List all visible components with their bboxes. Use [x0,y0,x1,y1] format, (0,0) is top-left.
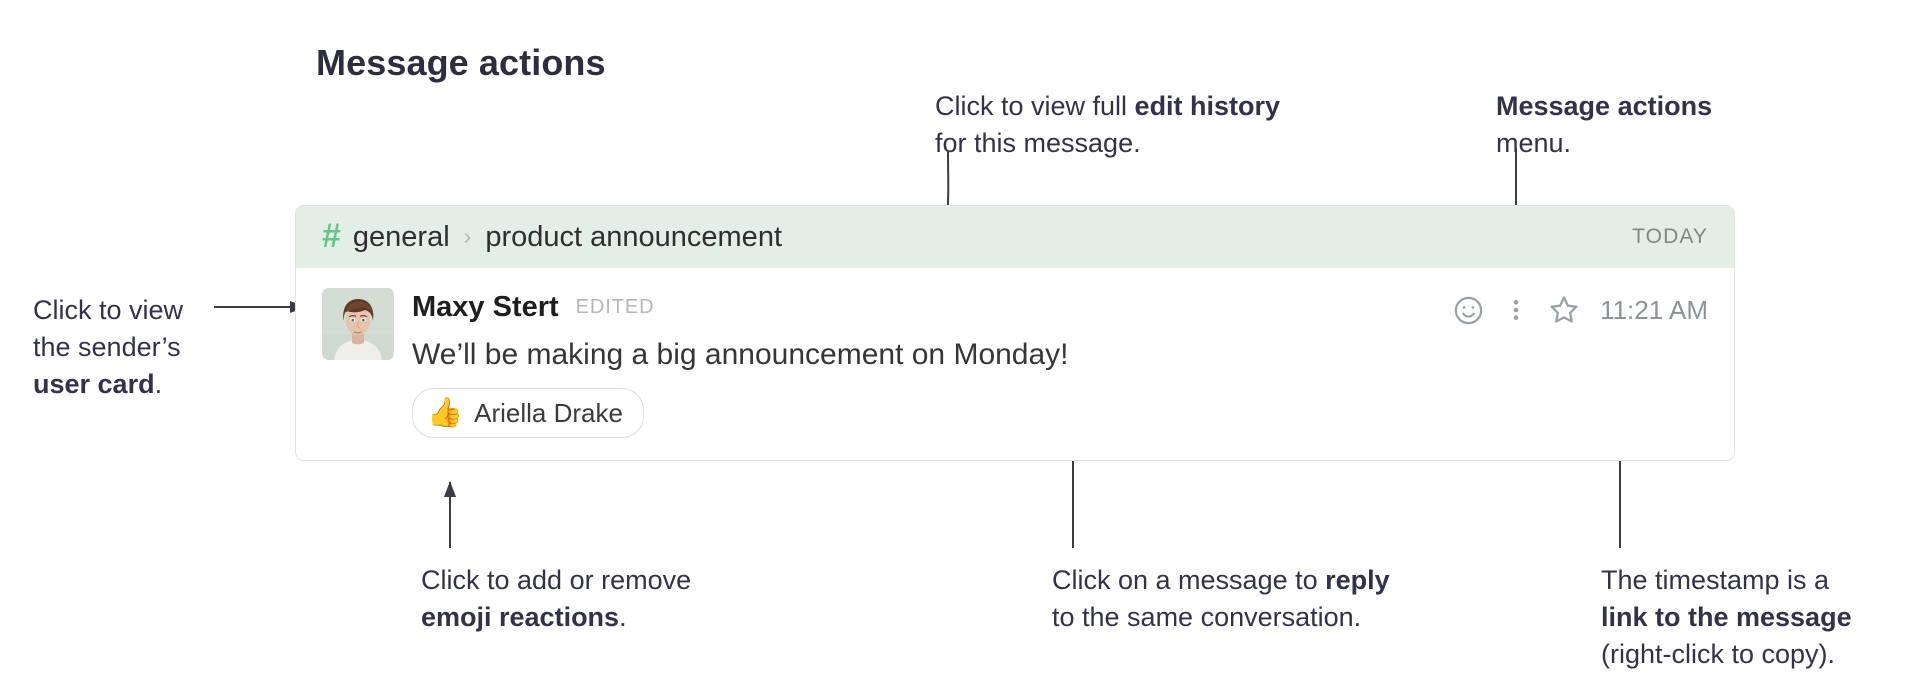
page-root: Message actions Click to view full edit … [0,0,1924,696]
annotation-text-bold: Message actions [1496,91,1712,121]
sender-name-link[interactable]: Maxy Stert [412,291,559,324]
annotation-text-pre: Click to view the sender’s [33,295,183,362]
annotation-edit-history: Click to view full edit history for this… [935,88,1280,162]
thumbs-up-icon: 👍 [427,399,463,428]
annotation-text-bold: link to the message [1601,602,1852,632]
stream-name-link[interactable]: general [353,221,450,254]
annotation-text-bold: edit history [1135,91,1281,121]
avatar[interactable] [322,288,394,360]
reaction-pill[interactable]: 👍 Ariella Drake [412,388,644,438]
message-timestamp-link[interactable]: 11:21 AM [1600,295,1708,326]
annotation-timestamp: The timestamp is a link to the message (… [1601,562,1852,673]
chevron-right-icon: › [464,223,472,250]
message-text[interactable]: We’ll be making a big announcement on Mo… [412,336,1708,374]
annotation-text-bold: reply [1325,565,1390,595]
annotation-text-post: menu. [1496,128,1571,158]
message-actions-menu-icon[interactable] [1492,290,1540,330]
annotation-emoji-reactions: Click to add or remove emoji reactions. [421,562,691,636]
reactions-row: 👍 Ariella Drake [412,388,1708,438]
annotation-text-pre: Click to view full [935,91,1135,121]
emoji-reaction-icon[interactable] [1444,290,1492,330]
reaction-label: Ariella Drake [474,398,623,429]
topic-name-link[interactable]: product announcement [485,221,782,254]
annotation-actions-menu: Message actions menu. [1496,88,1712,162]
hash-icon: # [322,219,341,253]
star-icon[interactable] [1540,290,1588,330]
annotation-reply: Click on a message to reply to the same … [1052,562,1390,636]
message-actions-toolbar: 11:21 AM [1444,290,1708,330]
annotation-text-bold: emoji reactions [421,602,619,632]
annotation-text-pre: Click to add or remove [421,565,691,595]
date-label[interactable]: TODAY [1632,225,1708,249]
recipient-bar[interactable]: # general › product announcement TODAY [296,206,1734,268]
message-card: # general › product announcement TODAY [295,205,1735,461]
message-body[interactable]: 11:21 AM [296,268,1734,460]
annotation-text-pre: The timestamp is a [1601,565,1829,595]
annotation-user-card: Click to view the sender’s user card. [33,292,183,403]
page-title: Message actions [316,42,606,84]
annotation-text-post: to the same conversation. [1052,602,1361,632]
annotation-text-pre: Click on a message to [1052,565,1325,595]
edited-badge[interactable]: EDITED [576,296,655,319]
annotation-text-post: . [155,369,163,399]
annotation-text-post: (right-click to copy). [1601,639,1835,669]
annotation-text-bold: user card [33,369,155,399]
annotation-text-post: for this message. [935,128,1141,158]
annotation-text-post: . [619,602,627,632]
